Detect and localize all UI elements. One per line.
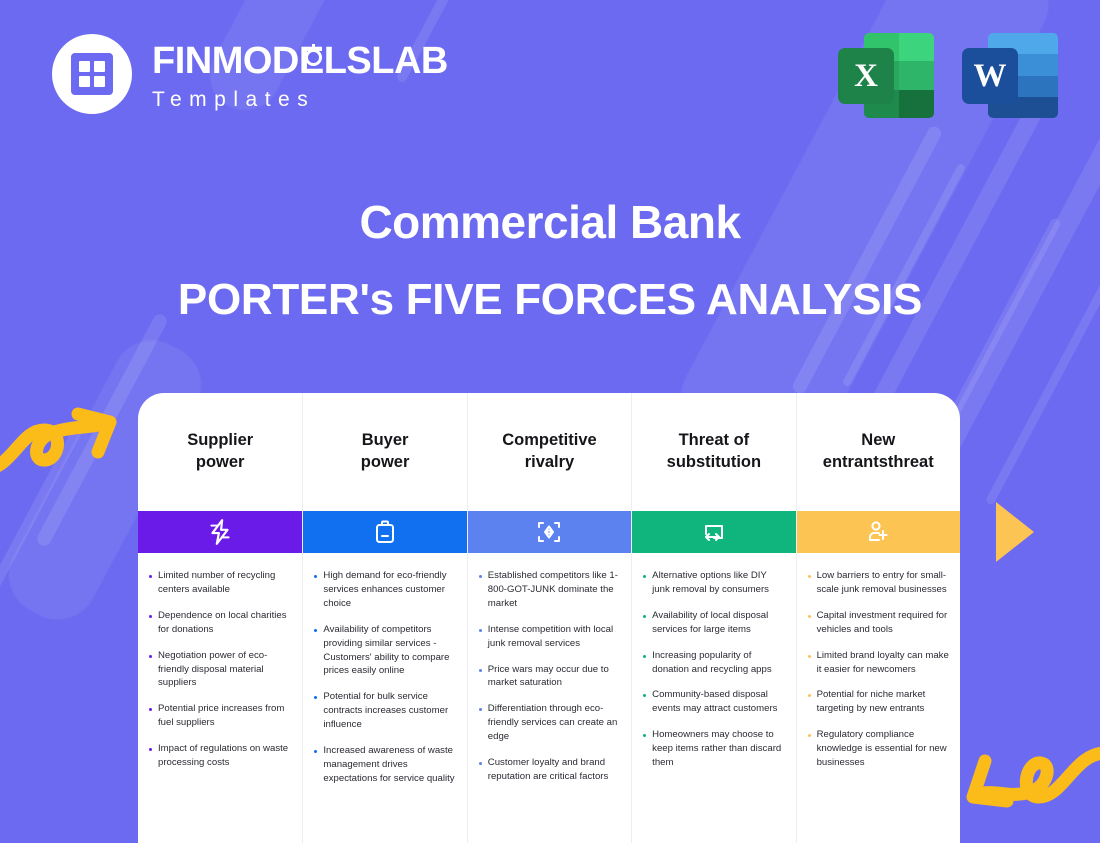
bullet-dot-icon	[808, 734, 811, 737]
list-item: Limited number of recycling centers avai…	[147, 569, 291, 597]
bullet-dot-icon	[643, 575, 646, 578]
list-item: Availability of local disposal services …	[641, 609, 784, 637]
force-column-competitive-rivalry[interactable]: Competitive rivalry Established	[467, 393, 631, 843]
column-header-buyer-power: Buyer power	[303, 393, 466, 511]
page-subtitle: PORTER's FIVE FORCES ANALYSIS	[0, 275, 1100, 326]
bullet-dot-icon	[314, 750, 317, 753]
column-title-line2: entrantsthreat	[823, 453, 934, 471]
column-band-new-entrants-threat	[797, 511, 960, 553]
porters-five-forces-card: Supplier power Limited number of recycli…	[138, 393, 960, 843]
force-column-threat-of-substitution[interactable]: Threat of substitution Alternat	[631, 393, 795, 843]
forces-columns: Supplier power Limited number of recycli…	[138, 393, 960, 843]
list-item: Low barriers to entry for small-scale ju…	[806, 569, 949, 597]
title-block: Commercial Bank PORTER's FIVE FORCES ANA…	[0, 196, 1100, 325]
brand-tagline: Templates	[152, 89, 448, 110]
column-title-line2: substitution	[667, 453, 761, 471]
bullet-dot-icon	[643, 694, 646, 697]
list-item: Negotiation power of eco-friendly dispos…	[147, 649, 291, 691]
column-title-line2: power	[361, 453, 410, 471]
swap-exchange-icon	[701, 520, 727, 544]
word-letter: W	[962, 48, 1018, 104]
column-title-line1: Competitive	[502, 431, 596, 449]
word-file-icon[interactable]: W	[962, 28, 1058, 120]
column-title-line1: Supplier	[187, 431, 253, 449]
user-add-icon	[865, 519, 891, 545]
bullet-dot-icon	[643, 734, 646, 737]
bullet-dot-icon	[149, 615, 152, 618]
column-bullets-supplier-power: Limited number of recycling centers avai…	[138, 553, 302, 843]
bullet-dot-icon	[808, 615, 811, 618]
bullet-dot-icon	[149, 575, 152, 578]
list-item: Capital investment required for vehicles…	[806, 609, 949, 637]
squiggle-arrow-up-right-icon	[0, 398, 127, 483]
bullet-dot-icon	[314, 575, 317, 578]
list-item: Community-based disposal events may attr…	[641, 688, 784, 716]
force-column-new-entrants-threat[interactable]: New entrantsthreat	[796, 393, 960, 843]
bullet-dot-icon	[479, 708, 482, 711]
list-item: Regulatory compliance knowledge is essen…	[806, 728, 949, 770]
column-band-supplier-power	[138, 511, 302, 553]
column-header-new-entrants-threat: New entrantsthreat	[797, 393, 960, 511]
column-bullets-new-entrants-threat: Low barriers to entry for small-scale ju…	[797, 553, 960, 843]
column-bullets-threat-of-substitution: Alternative options like DIY junk remova…	[632, 553, 795, 843]
column-bullets-buyer-power: High demand for eco-friendly services en…	[303, 553, 466, 843]
logo-o-stem-accent	[312, 44, 316, 52]
column-title-line2: power	[196, 453, 245, 471]
file-format-icons: X W	[838, 28, 1058, 120]
list-item: Increasing popularity of donation and re…	[641, 649, 784, 677]
squiggle-arrow-down-left-icon	[955, 735, 1100, 843]
list-item: Limited brand loyalty can make it easier…	[806, 649, 949, 677]
column-band-threat-of-substitution	[632, 511, 795, 553]
list-item: Potential for bulk service contracts inc…	[312, 690, 455, 732]
list-item: Increased awareness of waste management …	[312, 744, 455, 786]
list-item: Impact of regulations on waste processin…	[147, 742, 291, 770]
list-item: Alternative options like DIY junk remova…	[641, 569, 784, 597]
list-item: Potential for niche market targeting by …	[806, 688, 949, 716]
page-title: Commercial Bank	[0, 196, 1100, 249]
bullet-dot-icon	[149, 708, 152, 711]
bullet-dot-icon	[479, 669, 482, 672]
brand-name: FINMODELSLAB	[152, 42, 448, 80]
column-header-threat-of-substitution: Threat of substitution	[632, 393, 795, 511]
bullet-dot-icon	[479, 629, 482, 632]
column-band-buyer-power	[303, 511, 466, 553]
list-item: Differentiation through eco-friendly ser…	[477, 702, 620, 744]
column-band-competitive-rivalry	[468, 511, 631, 553]
bullet-dot-icon	[149, 748, 152, 751]
target-focus-icon	[536, 519, 562, 545]
grid-squares-icon	[52, 34, 132, 114]
column-bullets-competitive-rivalry: Established competitors like 1-800-GOT-J…	[468, 553, 631, 843]
bullet-dot-icon	[314, 629, 317, 632]
excel-file-icon[interactable]: X	[838, 28, 934, 120]
bullet-dot-icon	[479, 762, 482, 765]
column-title-line1: Threat of	[679, 431, 750, 449]
bullet-dot-icon	[808, 694, 811, 697]
bullet-dot-icon	[808, 575, 811, 578]
list-item: Price wars may occur due to market satur…	[477, 663, 620, 691]
excel-letter: X	[838, 48, 894, 104]
bullet-dot-icon	[808, 655, 811, 658]
list-item: Established competitors like 1-800-GOT-J…	[477, 569, 620, 611]
bullet-dot-icon	[643, 655, 646, 658]
bullet-dot-icon	[643, 615, 646, 618]
list-item: Homeowners may choose to keep items rath…	[641, 728, 784, 770]
column-title-line1: Buyer	[362, 431, 409, 449]
bullet-dot-icon	[314, 696, 317, 699]
force-column-buyer-power[interactable]: Buyer power High demand for eco-friendly…	[302, 393, 466, 843]
brand-logo[interactable]: FINMODELSLAB Templates	[52, 34, 448, 114]
list-item: Intense competition with local junk remo…	[477, 623, 620, 651]
list-item: Potential price increases from fuel supp…	[147, 702, 291, 730]
force-column-supplier-power[interactable]: Supplier power Limited number of recycli…	[138, 393, 302, 843]
column-title-line1: New	[861, 431, 895, 449]
bullet-dot-icon	[479, 575, 482, 578]
briefcase-minus-icon	[373, 519, 397, 545]
page-header: FINMODELSLAB Templates X	[0, 0, 1100, 150]
list-item: Availability of competitors providing si…	[312, 623, 455, 679]
column-header-competitive-rivalry: Competitive rivalry	[468, 393, 631, 511]
list-item: High demand for eco-friendly services en…	[312, 569, 455, 611]
list-item: Dependence on local charities for donati…	[147, 609, 291, 637]
lightning-bolt-icon	[207, 518, 233, 546]
column-header-supplier-power: Supplier power	[138, 393, 302, 511]
list-item: Customer loyalty and brand reputation ar…	[477, 756, 620, 784]
column-title-line2: rivalry	[525, 453, 575, 471]
bullet-dot-icon	[149, 655, 152, 658]
